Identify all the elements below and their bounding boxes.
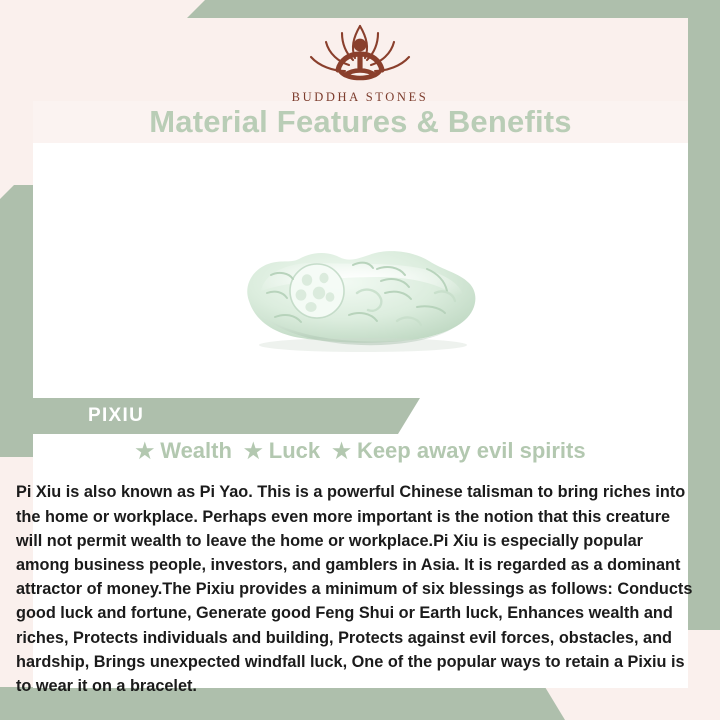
benefit-label: Wealth (160, 438, 232, 464)
lotus-meditation-figure-icon (285, 16, 435, 88)
benefit-label: Keep away evil spirits (357, 438, 586, 464)
star-icon: ★ (244, 441, 263, 462)
benefit-item-wealth: ★ Wealth (135, 438, 232, 464)
brand-logo: BUDDHA STONES (260, 16, 460, 105)
benefit-item-luck: ★ Luck (244, 438, 320, 464)
pixiu-name-label: PIXIU (88, 405, 144, 427)
star-icon: ★ (135, 441, 154, 462)
description-paragraph: Pi Xiu is also known as Pi Yao. This is … (16, 480, 696, 698)
pixiu-carving-image (231, 235, 491, 355)
benefit-item-keep-away-evil-spirits: ★ Keep away evil spirits (332, 438, 586, 464)
benefit-label: Luck (269, 438, 320, 464)
star-icon: ★ (332, 441, 351, 462)
benefits-row: ★ Wealth ★ Luck ★ Keep away evil spirits (33, 436, 688, 466)
page-title: Material Features & Benefits (149, 104, 572, 140)
page-title-band: Material Features & Benefits (33, 101, 688, 143)
pixiu-name-banner: PIXIU (0, 398, 420, 434)
poster-root: BUDDHA STONES Material Features & Benefi… (0, 0, 720, 720)
product-image-area (33, 143, 688, 395)
